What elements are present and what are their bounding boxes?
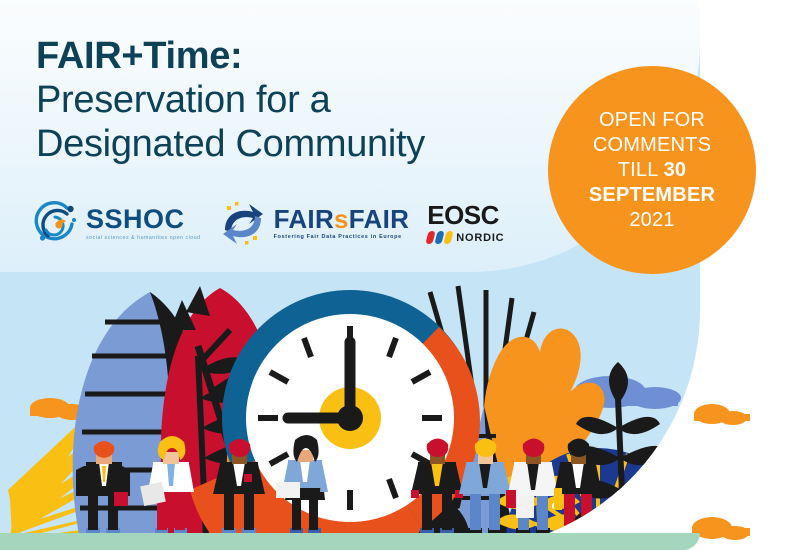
poster-canvas: FAIR+Time: Preservation for a Designated… — [0, 0, 800, 550]
fairsfair-mark-icon — [219, 200, 267, 246]
badge-line-4-bold: SEPTEMBER — [589, 184, 715, 206]
eosc-name: EOSC — [427, 202, 504, 228]
cloud-blue-low — [686, 449, 774, 477]
eosc-subtitle: NORDIC — [456, 232, 504, 244]
logo-fairsfair[interactable]: FAIRsFAIR Fostering Fair Data Practices … — [219, 194, 410, 252]
badge-line-3-prefix: TILL — [618, 159, 664, 181]
cloud-orange-right-mid — [694, 404, 750, 425]
logo-sshoc[interactable]: SSHOC social sciences & humanities open … — [34, 194, 201, 252]
ground-strip-extra — [0, 533, 640, 550]
sshoc-mark-icon — [34, 200, 80, 246]
title-line-1: FAIR+Time: — [36, 34, 556, 78]
badge-line-3-bold: 30 — [664, 159, 687, 181]
eosc-dot-yellow — [444, 231, 454, 244]
badge-line-5: 2021 — [629, 209, 674, 231]
fairsfair-part-1: FAIR — [274, 204, 334, 234]
page-title: FAIR+Time: Preservation for a Designated… — [36, 34, 556, 166]
fairsfair-name: FAIRsFAIR — [274, 206, 410, 232]
sshoc-tagline: social sciences & humanities open cloud — [86, 235, 201, 241]
cloud-orange-right-bottom — [692, 517, 750, 540]
badge-line-2: COMMENTS — [593, 134, 711, 156]
sshoc-name: SSHOC — [86, 206, 201, 233]
badge-line-1: OPEN FOR — [599, 109, 705, 131]
logo-eosc-nordic[interactable]: EOSC NORDIC — [427, 194, 504, 252]
open-for-comments-badge: OPEN FOR COMMENTS TILL 30 SEPTEMBER 2021 — [548, 66, 756, 274]
fairsfair-part-2: s — [334, 204, 349, 234]
partner-logos: SSHOC social sciences & humanities open … — [34, 192, 504, 254]
title-line-3: Designated Community — [36, 122, 556, 166]
badge-text: OPEN FOR COMMENTS TILL 30 SEPTEMBER 2021 — [575, 108, 729, 233]
title-line-2: Preservation for a — [36, 78, 556, 122]
fairsfair-tagline: Fostering Fair Data Practices in Europe — [274, 234, 410, 240]
fairsfair-part-3: FAIR — [349, 204, 409, 234]
eosc-dots-icon — [427, 231, 452, 244]
